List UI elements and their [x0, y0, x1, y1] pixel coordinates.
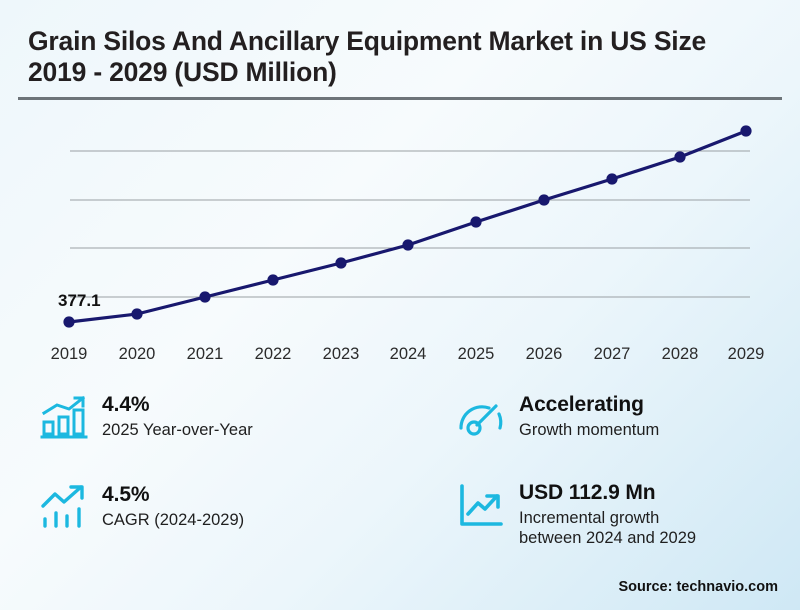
stat-label-momentum: Growth momentum [519, 420, 659, 440]
stat-label-incremental-line1: Incremental growth [519, 508, 696, 528]
chart-gridlines [70, 151, 750, 297]
stat-label-incremental-line2: between 2024 and 2029 [519, 528, 696, 548]
x-tick-2019: 2019 [51, 345, 88, 364]
x-tick-2022: 2022 [255, 345, 292, 364]
stat-value-cagr: 4.5% [102, 483, 244, 507]
first-point-value-label: 377.1 [58, 291, 101, 310]
page-title: Grain Silos And Ancillary Equipment Mark… [28, 26, 770, 88]
speedometer-icon [455, 392, 507, 442]
stat-value-incremental: USD 112.9 Mn [519, 481, 696, 505]
stat-card-yoy: 4.4% 2025 Year-over-Year [38, 392, 253, 442]
x-tick-2025: 2025 [458, 345, 495, 364]
stat-card-incremental: USD 112.9 Mn Incremental growth between … [455, 480, 696, 548]
x-tick-2021: 2021 [187, 345, 224, 364]
chart-series-line [69, 131, 746, 322]
x-tick-2028: 2028 [662, 345, 699, 364]
stats-section: 4.4% 2025 Year-over-Year 4.5% CAGR (2024… [0, 382, 800, 567]
line-chart: 377.1 [0, 108, 800, 376]
x-tick-2027: 2027 [594, 345, 631, 364]
trend-up-bars-icon [38, 482, 90, 532]
x-tick-2026: 2026 [526, 345, 563, 364]
stat-card-momentum: Accelerating Growth momentum [455, 392, 659, 442]
stat-value-yoy: 4.4% [102, 393, 253, 417]
x-tick-2024: 2024 [390, 345, 427, 364]
stat-label-cagr: CAGR (2024-2029) [102, 510, 244, 530]
stat-card-cagr: 4.5% CAGR (2024-2029) [38, 482, 244, 532]
stat-value-momentum: Accelerating [519, 393, 659, 417]
x-tick-2020: 2020 [119, 345, 156, 364]
chart-x-axis: 2019 2020 2021 2022 2023 2024 2025 2026 … [0, 345, 800, 371]
header-divider [18, 97, 782, 100]
source-attribution: Source: technavio.com [618, 579, 778, 595]
growth-chart-axis-icon [455, 480, 507, 530]
bar-chart-growth-icon [38, 392, 90, 442]
x-tick-2023: 2023 [323, 345, 360, 364]
x-tick-2029: 2029 [728, 345, 765, 364]
stat-label-yoy: 2025 Year-over-Year [102, 420, 253, 440]
